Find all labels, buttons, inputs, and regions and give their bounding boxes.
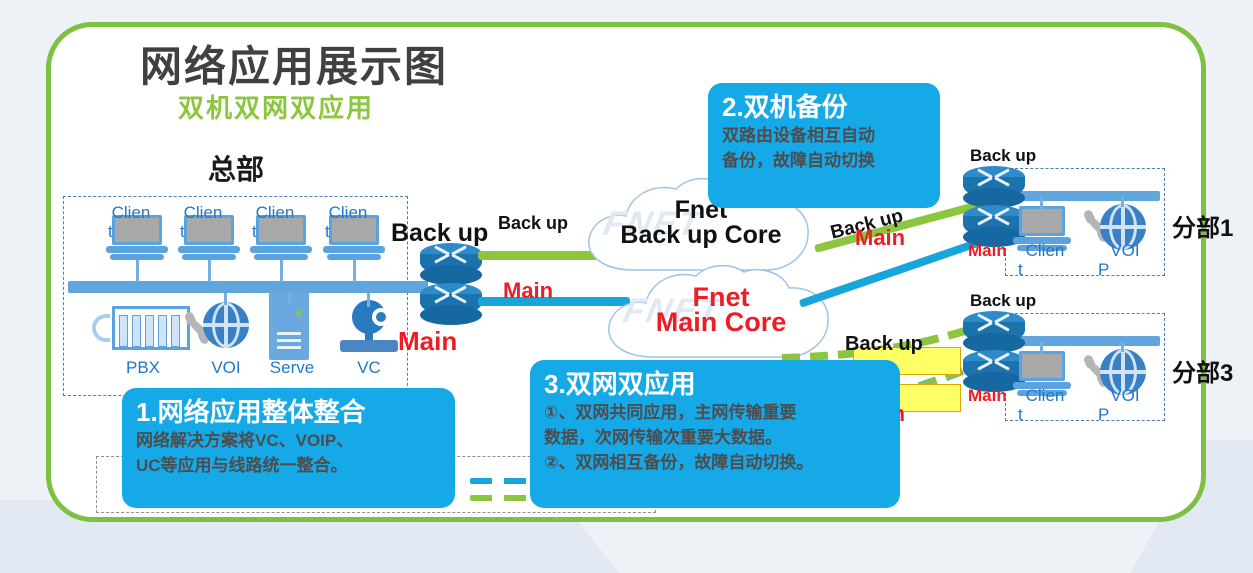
- server-led-icon: [296, 310, 302, 316]
- callout-1-title: 1.网络应用整体整合: [136, 396, 441, 428]
- callout-3-title: 3.双网双应用: [544, 368, 886, 400]
- laptop-screen-icon: [1019, 351, 1065, 381]
- pbx-icon: [92, 306, 192, 352]
- branch-3-voip-line1: VOI: [1110, 386, 1139, 405]
- branch-1-client-line2: t: [1018, 260, 1072, 279]
- diagram-canvas: 网络应用展示图 双机双网双应用 总部 Clien t Clien t Clien…: [0, 0, 1253, 573]
- branch-1-router-backup: [963, 166, 1025, 206]
- voip-label: VOI: [196, 358, 256, 378]
- camera-base-icon: [340, 340, 398, 352]
- hq-client-label-4-line1: Clien: [329, 203, 368, 222]
- video-conference-camera-icon: [340, 300, 398, 358]
- branch-1-voip-line2: P: [1098, 260, 1152, 279]
- hq-router-backup: [420, 243, 482, 283]
- server-label: Serve: [262, 358, 322, 378]
- callout-2[interactable]: 2.双机备份 双路由设备相互自动 备份，故障自动切换: [708, 83, 940, 208]
- callout-3-body-line3: ②、双网相互备份，故障自动切换。: [544, 450, 886, 475]
- link-branch1-main-label: Main: [855, 225, 905, 251]
- globe-voip-icon: [203, 302, 249, 348]
- branch-3-client-label: Clien t: [1018, 386, 1072, 424]
- pbx-handle-icon: [92, 314, 110, 342]
- hq-client-stub-2: [208, 260, 211, 282]
- branch-3-main-label: Main: [968, 386, 1007, 406]
- callout-2-body-line1: 双路由设备相互自动: [722, 123, 926, 148]
- hq-vc-stub: [367, 293, 370, 307]
- hq-client-label-1-line1: Clien: [112, 203, 151, 222]
- router-arrows-icon: [977, 353, 1011, 369]
- hq-router-main: [420, 283, 482, 323]
- router-arrows-icon: [977, 208, 1011, 224]
- hq-client-label-1-line2: t: [108, 222, 154, 241]
- headquarters-title: 总部: [208, 148, 264, 188]
- laptop-base-icon: [178, 246, 240, 253]
- branch-1-title: 分部1: [1172, 208, 1233, 243]
- vc-label: VC: [340, 358, 398, 378]
- router-arrows-icon: [977, 314, 1011, 330]
- page-subtitle: 双机双网双应用: [178, 88, 374, 125]
- hq-client-label-2: Clien t: [180, 203, 226, 241]
- hq-server-stub: [288, 293, 291, 305]
- branch-3-voip-stub: [1121, 342, 1124, 352]
- camera-lens-icon: [372, 308, 390, 326]
- hq-client-label-4-line2: t: [325, 222, 371, 241]
- branch-1-backup-label: Back up: [970, 146, 1036, 166]
- branch-1-voip-stub: [1121, 197, 1124, 207]
- hq-client-label-3-line1: Clien: [256, 203, 295, 222]
- callout-1[interactable]: 1.网络应用整体整合 网络解决方案将VC、VOIP、 UC等应用与线路统一整合。: [122, 388, 455, 508]
- hq-client-label-2-line1: Clien: [184, 203, 223, 222]
- hq-router-main-label: Main: [398, 326, 457, 357]
- laptop-base-icon: [250, 246, 312, 253]
- router-arrows-icon: [434, 286, 468, 302]
- pbx-body-icon: [112, 306, 190, 350]
- branch-3-backup-label: Back up: [970, 291, 1036, 311]
- callout-2-title: 2.双机备份: [722, 91, 926, 123]
- laptop-base-icon: [323, 246, 385, 253]
- branch-3-voip-label: VOI P: [1098, 386, 1152, 424]
- hq-bus-line: [68, 281, 428, 293]
- laptop-screen-icon: [1019, 206, 1065, 236]
- hq-client-stub-4: [353, 260, 356, 282]
- callout-3-body-line2: 数据，次网传输次重要大数据。: [544, 425, 886, 450]
- hq-client-stub-1: [136, 260, 139, 282]
- laptop-base-icon: [106, 246, 168, 253]
- branch-3-router-backup: [963, 311, 1025, 351]
- cloud-backup-core-line2: Back up Core: [620, 221, 781, 249]
- globe-ring-icon: [212, 302, 240, 348]
- branch-1-voip-label: VOI P: [1098, 241, 1152, 279]
- cloud-main-core-line2: Main Core: [656, 307, 787, 337]
- link-branch3-backup-label: Back up: [845, 333, 923, 356]
- branch-1-client-stub: [1040, 197, 1043, 209]
- hq-client-label-4: Clien t: [325, 203, 371, 241]
- branch-1-main-label: Main: [968, 241, 1007, 261]
- branch-3-voip-line2: P: [1098, 405, 1152, 424]
- hq-client-label-2-line2: t: [180, 222, 226, 241]
- hq-client-stub-3: [280, 260, 283, 282]
- hq-client-label-3-line2: t: [252, 222, 298, 241]
- hq-client-label-1: Clien t: [108, 203, 154, 241]
- callout-1-body-line1: 网络解决方案将VC、VOIP、: [136, 428, 441, 453]
- branch-1-client-line1: Clien: [1026, 241, 1065, 260]
- link-hq-backup-label: Back up: [498, 213, 568, 234]
- router-arrows-icon: [434, 246, 468, 262]
- router-arrows-icon: [977, 169, 1011, 185]
- callout-3-body-line1: ①、双网共同应用，主网传输重要: [544, 400, 886, 425]
- callout-1-body-line2: UC等应用与线路统一整合。: [136, 453, 441, 478]
- hq-client-label-3: Clien t: [252, 203, 298, 241]
- hq-voip-stub: [224, 293, 227, 305]
- branch-3-client-line2: t: [1018, 405, 1072, 424]
- branch-3-client-line1: Clien: [1026, 386, 1065, 405]
- page-title: 网络应用展示图: [140, 33, 448, 94]
- branch-1-voip-line1: VOI: [1110, 241, 1139, 260]
- branch-3-client-stub: [1040, 342, 1043, 354]
- callout-2-body-line2: 备份，故障自动切换: [722, 148, 926, 173]
- callout-3[interactable]: 3.双网双应用 ①、双网共同应用，主网传输重要 数据，次网传输次重要大数据。 ②…: [530, 360, 900, 508]
- branch-3-title: 分部3: [1172, 353, 1233, 388]
- branch-1-client-label: Clien t: [1018, 241, 1072, 279]
- pbx-label: PBX: [113, 358, 173, 378]
- link-hq-main-label: Main: [503, 278, 553, 304]
